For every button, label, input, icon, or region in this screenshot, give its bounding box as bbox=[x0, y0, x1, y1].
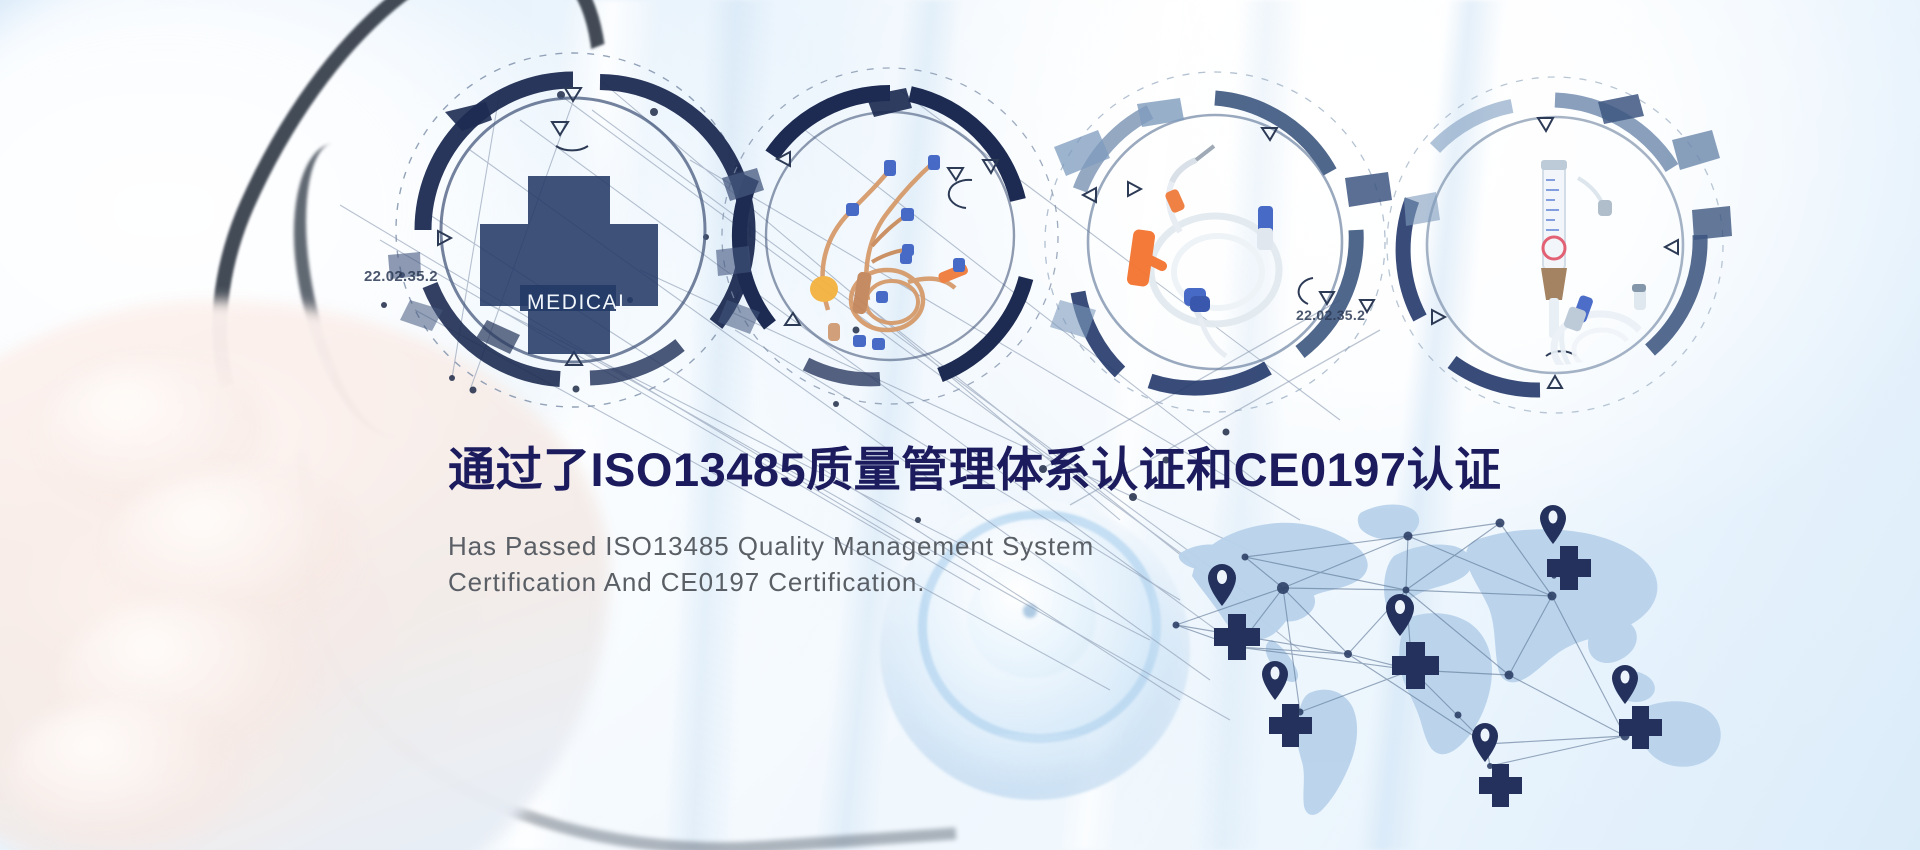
hud-code-label-2: 22.02.35.2 bbox=[1296, 307, 1365, 323]
subtitle-line-2: Certification And CE0197 Certification. bbox=[448, 564, 1178, 601]
medical-badge-label: MEDICAL bbox=[527, 291, 632, 315]
certification-hero-banner: 22.02.35.2 22.02.35.2 MEDICAL 通过了ISO1348… bbox=[0, 0, 1920, 850]
hud-code-label-1: 22.02.35.2 bbox=[364, 268, 438, 285]
global-network-map bbox=[0, 0, 1920, 850]
banner-copy-block: 通过了ISO13485质量管理体系认证和CE0197认证 Has Passed … bbox=[448, 443, 1548, 601]
map-pin-southern-ocean bbox=[1472, 723, 1522, 807]
subtitle-line-1: Has Passed ISO13485 Quality Management S… bbox=[448, 498, 1178, 565]
page-title: 通过了ISO13485质量管理体系认证和CE0197认证 bbox=[448, 443, 1548, 498]
